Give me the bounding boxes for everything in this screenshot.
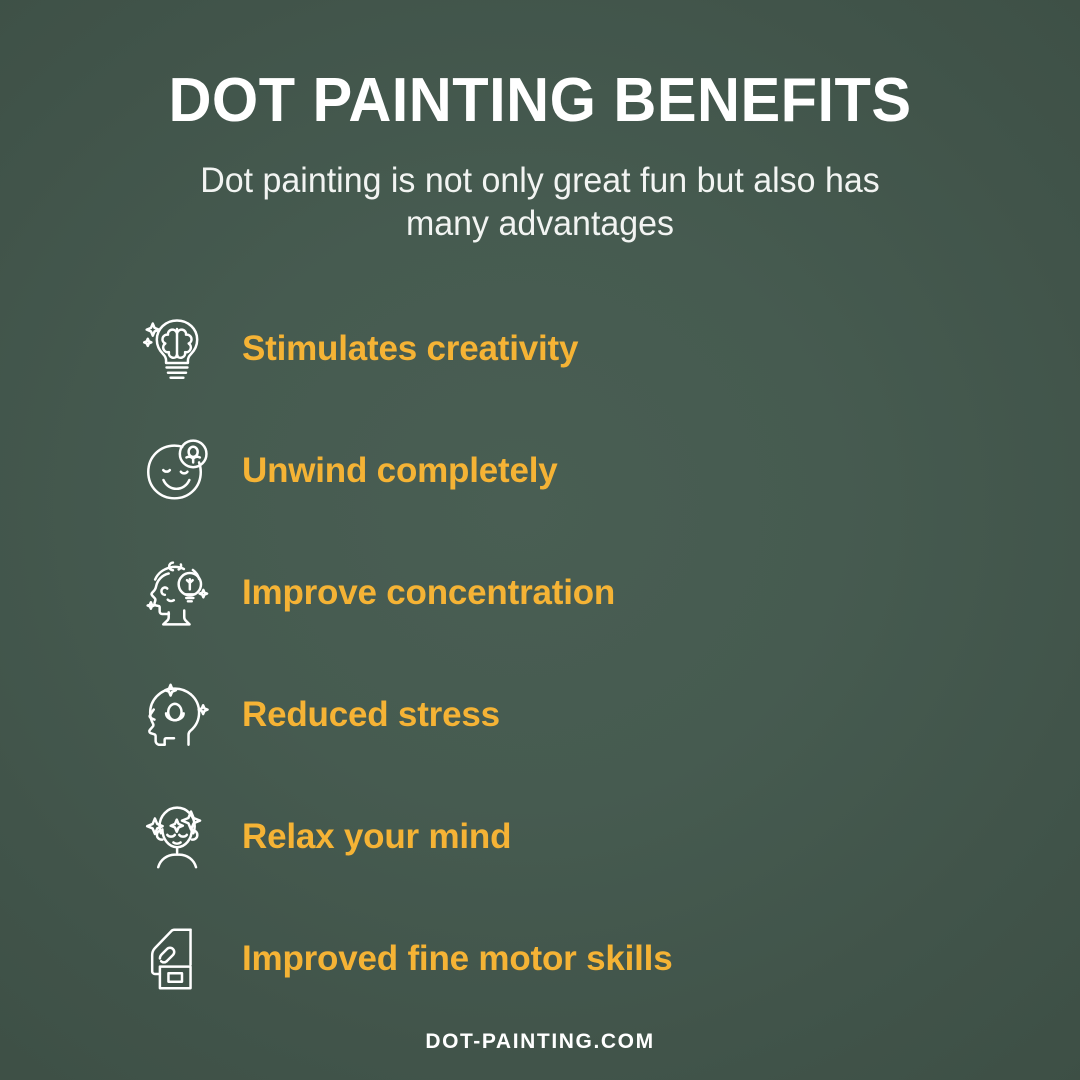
list-item: Stimulates creativity (0, 288, 1080, 410)
list-item: Relax your mind (0, 776, 1080, 898)
brain-lightbulb-icon (138, 310, 216, 388)
poster-footer: DOT-PAINTING.COM (0, 1030, 1080, 1054)
list-item: Improve concentration (0, 532, 1080, 654)
list-item: Unwind completely (0, 410, 1080, 532)
head-profile-lightbulb-icon (138, 554, 216, 632)
poster-canvas: DOT PAINTING BENEFITS Dot painting is no… (0, 0, 1080, 1080)
benefit-label: Improve concentration (242, 573, 615, 613)
benefit-label: Relax your mind (242, 817, 511, 857)
page-subtitle: Dot painting is not only great fun but a… (167, 160, 914, 245)
smiling-face-flower-icon (138, 432, 216, 510)
benefits-list: Stimulates creativity Unwind completely (0, 288, 1080, 1020)
benefit-label: Unwind completely (242, 451, 558, 491)
list-item: Improved fine motor skills (0, 898, 1080, 1020)
poster-header: DOT PAINTING BENEFITS Dot painting is no… (0, 0, 1080, 245)
relaxed-face-sparkles-icon (138, 798, 216, 876)
benefit-label: Improved fine motor skills (242, 939, 672, 979)
benefit-label: Reduced stress (242, 695, 500, 735)
hand-holding-block-icon (138, 920, 216, 998)
page-title: DOT PAINTING BENEFITS (22, 70, 1059, 132)
benefit-label: Stimulates creativity (242, 329, 578, 369)
website-url: DOT-PAINTING.COM (425, 1030, 654, 1053)
head-lotus-icon (138, 676, 216, 754)
list-item: Reduced stress (0, 654, 1080, 776)
